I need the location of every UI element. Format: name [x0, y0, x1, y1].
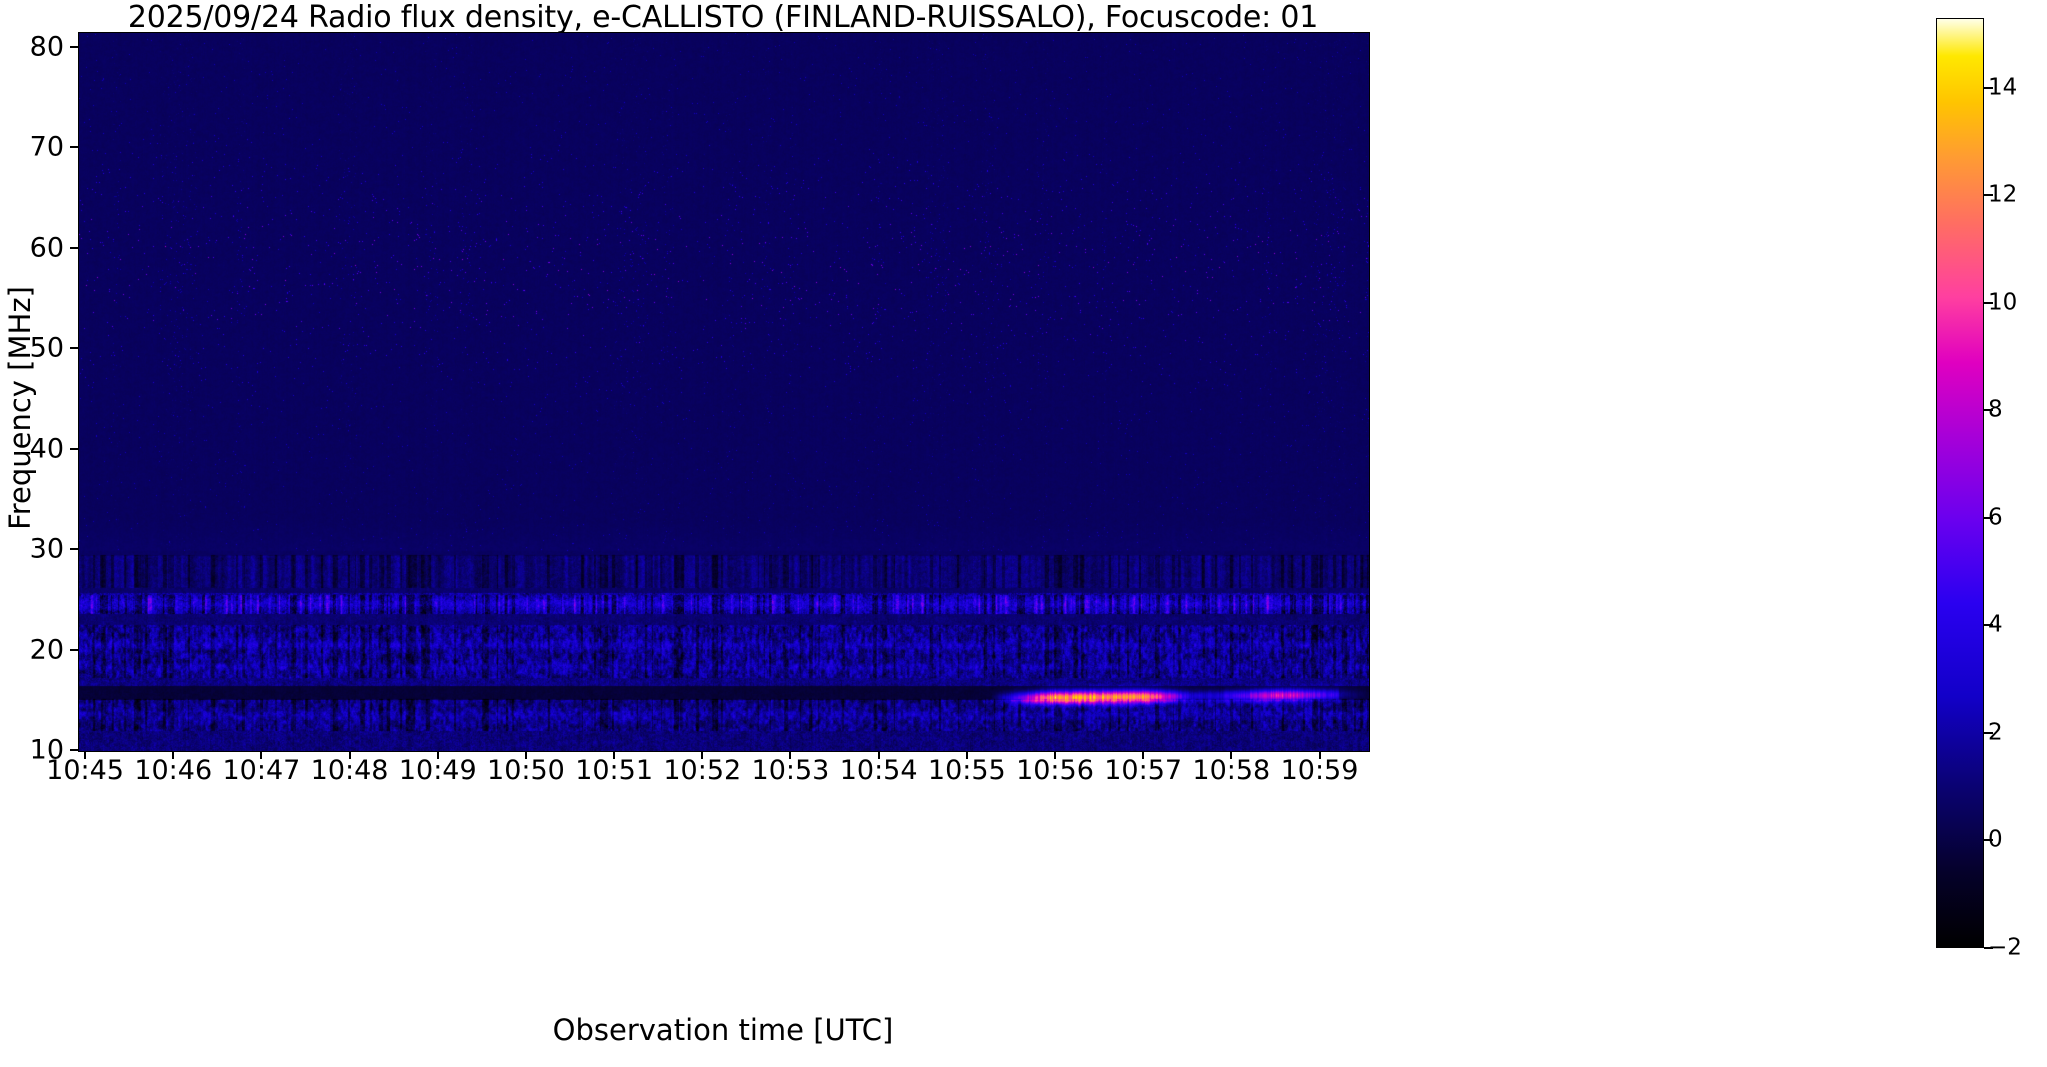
- y-tick-mark: [70, 548, 78, 550]
- x-tick-mark: [1054, 751, 1056, 759]
- x-tick-mark: [84, 751, 86, 759]
- x-tick-label: 10:47: [222, 757, 300, 785]
- x-tick-label: 10:50: [487, 757, 565, 785]
- y-axis-label: Frequency [MHz]: [3, 248, 37, 568]
- x-tick-label: 10:55: [928, 757, 1006, 785]
- y-tick-mark: [70, 347, 78, 349]
- x-tick-mark: [878, 751, 880, 759]
- x-tick-label: 10:53: [752, 757, 830, 785]
- y-tick-mark: [70, 448, 78, 450]
- x-tick-label: 10:48: [311, 757, 389, 785]
- x-tick-mark: [966, 751, 968, 759]
- colorbar-tick-mark: [1984, 839, 1993, 841]
- x-axis-label: Observation time [UTC]: [78, 1013, 1368, 1047]
- colorbar-tick-mark: [1984, 732, 1993, 734]
- x-tick-mark: [1319, 751, 1321, 759]
- x-tick-mark: [1230, 751, 1232, 759]
- colorbar-tick-mark: [1984, 624, 1993, 626]
- x-tick-label: 10:51: [575, 757, 653, 785]
- x-tick-label: 10:57: [1104, 757, 1182, 785]
- colorbar-tick-mark: [1984, 517, 1993, 519]
- spectrogram-image: [79, 33, 1369, 751]
- x-tick-label: 10:59: [1281, 757, 1359, 785]
- y-tick-mark: [70, 146, 78, 148]
- x-tick-mark: [437, 751, 439, 759]
- x-tick-label: 10:45: [46, 757, 124, 785]
- x-tick-mark: [789, 751, 791, 759]
- colorbar-tick-label: −2: [1988, 937, 2022, 960]
- colorbar-gradient: [1937, 19, 1983, 947]
- x-tick-label: 10:54: [840, 757, 918, 785]
- x-tick-mark: [701, 751, 703, 759]
- x-tick-mark: [1142, 751, 1144, 759]
- y-tick-label: 80: [30, 34, 64, 61]
- x-tick-mark: [260, 751, 262, 759]
- page-title: 2025/09/24 Radio flux density, e-CALLIST…: [78, 2, 1368, 34]
- x-tick-mark: [613, 751, 615, 759]
- y-tick-mark: [70, 46, 78, 48]
- x-tick-label: 10:58: [1192, 757, 1270, 785]
- figure-canvas: 2025/09/24 Radio flux density, e-CALLIST…: [0, 0, 2047, 1067]
- y-tick-mark: [70, 749, 78, 751]
- x-tick-mark: [525, 751, 527, 759]
- colorbar-tick-mark: [1984, 194, 1993, 196]
- colorbar-tick-mark: [1984, 409, 1993, 411]
- colorbar-tick-mark: [1984, 87, 1993, 89]
- x-tick-mark: [349, 751, 351, 759]
- spectrogram-plot-area[interactable]: [78, 32, 1370, 752]
- colorbar-tick-mark: [1984, 947, 1993, 949]
- x-tick-label: 10:56: [1016, 757, 1094, 785]
- x-tick-mark: [172, 751, 174, 759]
- y-tick-mark: [70, 247, 78, 249]
- x-tick-label: 10:46: [134, 757, 212, 785]
- x-tick-label: 10:49: [399, 757, 477, 785]
- x-tick-label: 10:52: [663, 757, 741, 785]
- colorbar-tick-mark: [1984, 302, 1993, 304]
- colorbar: [1936, 18, 1984, 948]
- y-tick-label: 70: [30, 134, 64, 161]
- y-tick-mark: [70, 649, 78, 651]
- y-tick-label: 20: [30, 636, 64, 663]
